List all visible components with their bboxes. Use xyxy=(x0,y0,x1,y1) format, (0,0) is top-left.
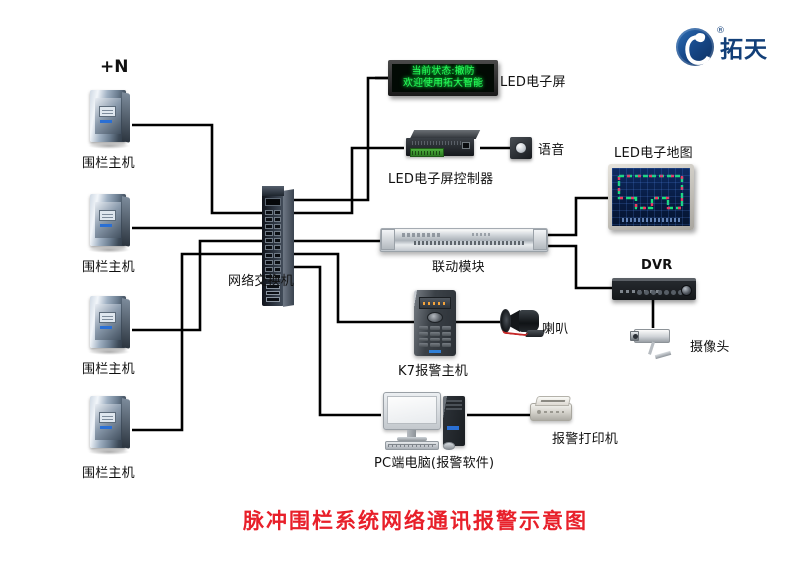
camera-icon[interactable] xyxy=(628,325,680,363)
diagram-title: 脉冲围栏系统网络通讯报警示意图 xyxy=(243,505,588,535)
fence-host-2-icon[interactable] xyxy=(86,192,132,250)
network-switch-label: 网络交换机 xyxy=(228,270,294,289)
wire-switch-ledscreen xyxy=(284,78,388,200)
wire-linkage-dvr xyxy=(548,246,612,288)
fence-host-4-label: 围栏主机 xyxy=(82,462,135,481)
horn-speaker-icon[interactable] xyxy=(500,308,548,338)
dvr-label: DVR xyxy=(641,258,672,273)
wire-switch-pc xyxy=(284,267,381,415)
pc-workstation-label: PC端电脑(报警软件) xyxy=(374,452,494,471)
fence-host-3-icon[interactable] xyxy=(86,294,132,352)
camera-label: 摄像头 xyxy=(690,336,730,355)
linkage-module-icon[interactable] xyxy=(380,228,548,252)
wire-linkage-ledmap xyxy=(548,198,608,235)
dvr-icon[interactable] xyxy=(612,278,696,300)
tuotian-emblem-icon: ® xyxy=(676,28,714,66)
fence-host-1-icon[interactable] xyxy=(86,88,132,146)
plus-n-annotation: +N xyxy=(100,57,128,77)
wire-switch-k7 xyxy=(284,254,414,322)
voice-module-icon[interactable] xyxy=(510,137,532,159)
led-controller-label: LED电子屏控制器 xyxy=(388,168,493,187)
voice-module-label: 语音 xyxy=(538,139,564,158)
led-screen-line2: 欢迎使用拓大智能 xyxy=(403,78,483,90)
k7-alarm-host-icon[interactable] xyxy=(414,290,456,356)
brand-name: 拓天 xyxy=(720,30,768,64)
alarm-printer-label: 报警打印机 xyxy=(552,428,618,447)
led-map-label: LED电子地图 xyxy=(614,142,693,161)
led-controller-icon[interactable] xyxy=(406,130,480,160)
horn-speaker-label: 喇叭 xyxy=(542,318,568,337)
k7-alarm-host-label: K7报警主机 xyxy=(398,360,468,379)
alarm-printer-icon[interactable] xyxy=(530,394,574,424)
pc-workstation-icon[interactable] xyxy=(381,392,477,452)
wire-fence1-switch xyxy=(132,125,265,213)
fence-host-4-icon[interactable] xyxy=(86,394,132,452)
led-screen-icon[interactable]: 当前状态:撤防 欢迎使用拓大智能 xyxy=(388,60,498,96)
wire-switch-ledcontroller xyxy=(284,148,404,213)
led-map-icon[interactable] xyxy=(608,164,694,230)
linkage-module-label: 联动模块 xyxy=(432,256,485,275)
fence-host-2-label: 围栏主机 xyxy=(82,256,135,275)
registered-mark: ® xyxy=(716,26,725,36)
fence-host-1-label: 围栏主机 xyxy=(82,152,135,171)
brand-logo: ® 拓天 xyxy=(676,28,768,66)
led-screen-label: LED电子屏 xyxy=(500,71,566,90)
diagram-canvas: ® 拓天 +N 围栏主机 围栏主机 围栏主机 围栏主机 网络交换机 xyxy=(0,0,800,579)
led-screen-line1: 当前状态:撤防 xyxy=(411,66,474,78)
fence-host-3-label: 围栏主机 xyxy=(82,358,135,377)
